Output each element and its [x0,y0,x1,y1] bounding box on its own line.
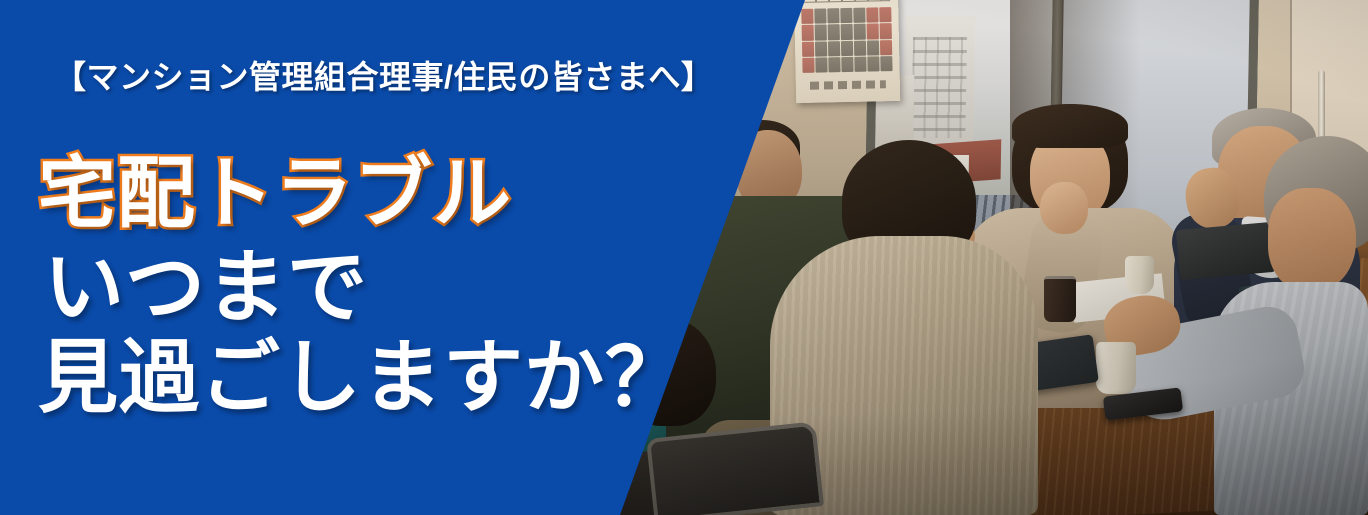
paper-cup-far [1125,256,1154,294]
headline-line-2: いつまで [44,243,738,333]
hero-banner: 【マンション管理組合理事/住民の皆さまへ】 宅配トラブル いつまで 見過ごします… [0,0,1368,515]
eyebrow-text: 【マンション管理組合理事/住民の皆さまへ】 [54,52,713,98]
tablet-far [1176,222,1276,280]
dark-tumbler [1044,276,1076,322]
headline-line-1: 宅配トラブル [38,150,738,237]
woman-bangs [1012,104,1128,148]
copy-block: 【マンション管理組合理事/住民の皆さまへ】 宅配トラブル いつまで 見過ごします… [0,0,830,515]
woman-hand [1040,182,1088,234]
headline-line-3: 見過ごしますか？ [38,333,738,423]
headline: 宅配トラブル いつまで 見過ごしますか？ [38,150,738,423]
right-man-face [1268,188,1356,292]
paper-cup-center [1096,342,1136,394]
